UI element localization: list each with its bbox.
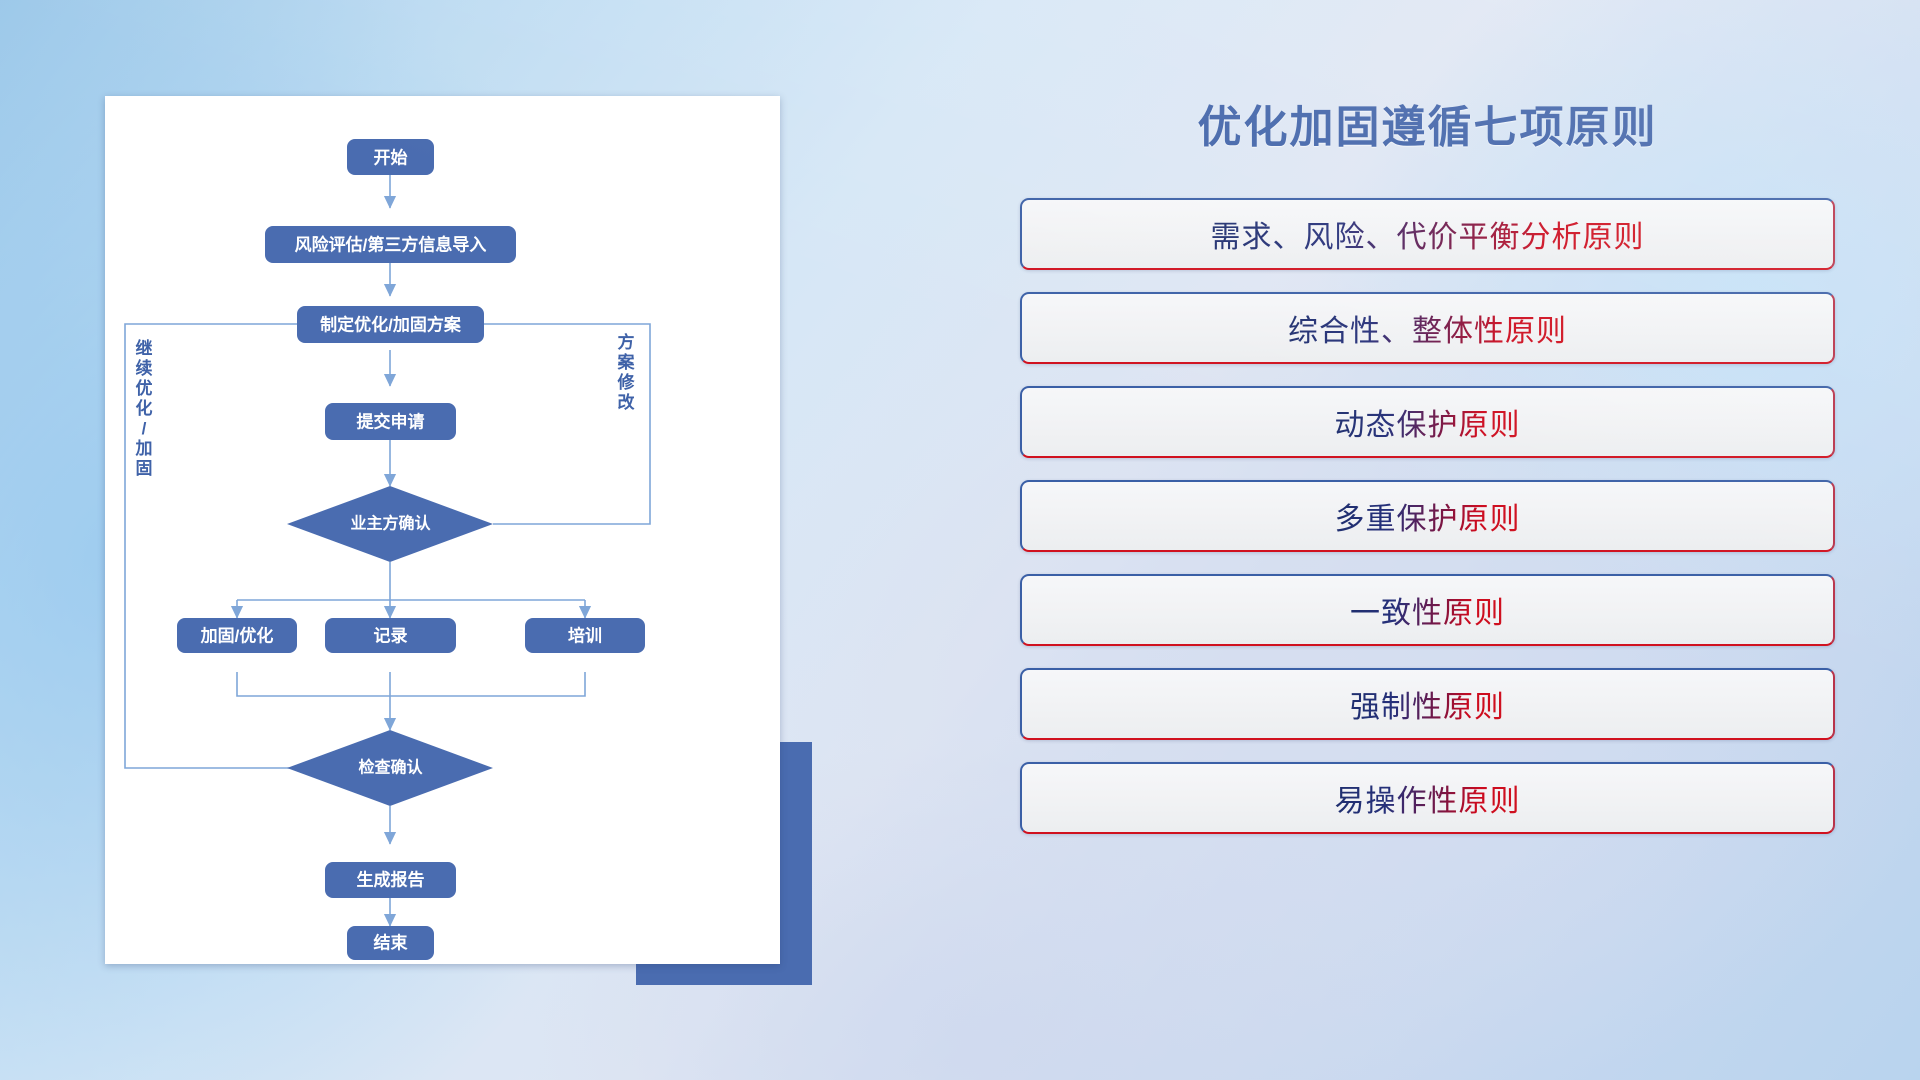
flow-node-training[interactable]: 培训 <box>525 618 645 653</box>
principle-item[interactable]: 易操作性原则 <box>1020 762 1835 834</box>
flow-node-reinforce-label: 加固/优化 <box>200 626 274 646</box>
principle-item-label: 需求、风险、代价平衡分析原则 <box>1211 212 1645 256</box>
principle-item-label: 多重保护原则 <box>1335 494 1521 538</box>
principle-item-label: 综合性、整体性原则 <box>1288 306 1567 350</box>
flow-node-report-label: 生成报告 <box>357 870 425 890</box>
connector-check-to-plan-continue <box>125 324 375 768</box>
flow-node-training-label: 培训 <box>568 626 602 646</box>
panel-title: 优化加固遵循七项原则 <box>1020 96 1835 152</box>
flow-node-plan-label: 制定优化/加固方案 <box>320 315 462 335</box>
principle-item-label: 动态保护原则 <box>1335 400 1521 444</box>
flowchart-card: 开始 风险评估/第三方信息导入 制定优化/加固方案 提交申请 业主方确认 <box>105 96 780 964</box>
flow-node-record[interactable]: 记录 <box>325 618 456 653</box>
flow-node-start-label: 开始 <box>374 148 408 168</box>
flow-node-owner-confirm[interactable]: 业主方确认 <box>287 486 493 562</box>
flow-node-end-label: 结束 <box>374 933 408 953</box>
flow-node-check-confirm[interactable]: 检查确认 <box>287 730 493 806</box>
flow-node-owner-confirm-label: 业主方确认 <box>350 514 431 533</box>
flow-node-record-label: 记录 <box>374 627 408 646</box>
flow-node-risk-assessment-label: 风险评估/第三方信息导入 <box>295 235 487 255</box>
slide-canvas: 开始 风险评估/第三方信息导入 制定优化/加固方案 提交申请 业主方确认 <box>0 0 1920 1080</box>
principle-item[interactable]: 动态保护原则 <box>1020 386 1835 458</box>
principle-item[interactable]: 强制性原则 <box>1020 668 1835 740</box>
principles-panel: 优化加固遵循七项原则 需求、风险、代价平衡分析原则 综合性、整体性原则 动态保护… <box>1020 96 1835 996</box>
flow-node-plan[interactable]: 制定优化/加固方案 <box>297 306 484 343</box>
flow-node-submit[interactable]: 提交申请 <box>325 403 456 440</box>
flow-node-report[interactable]: 生成报告 <box>325 862 456 898</box>
principle-item[interactable]: 需求、风险、代价平衡分析原则 <box>1020 198 1835 270</box>
flow-node-start[interactable]: 开始 <box>347 139 434 175</box>
connector-merge-bar <box>237 672 585 696</box>
principle-item-label: 易操作性原则 <box>1335 776 1521 820</box>
principle-item-label: 一致性原则 <box>1350 588 1505 632</box>
flow-node-end[interactable]: 结束 <box>347 926 434 960</box>
flowchart-svg: 开始 风险评估/第三方信息导入 制定优化/加固方案 提交申请 业主方确认 <box>105 96 780 964</box>
flow-node-check-confirm-label: 检查确认 <box>358 758 423 777</box>
principles-list: 需求、风险、代价平衡分析原则 综合性、整体性原则 动态保护原则 多重保护原则 一… <box>1020 198 1835 834</box>
flow-node-risk-assessment[interactable]: 风险评估/第三方信息导入 <box>265 226 516 263</box>
principle-item[interactable]: 一致性原则 <box>1020 574 1835 646</box>
principle-item[interactable]: 多重保护原则 <box>1020 480 1835 552</box>
edge-label-continue-optimize: 继续优化/加固 <box>135 338 153 478</box>
edge-label-plan-revise: 方案修改 <box>617 332 636 412</box>
flow-node-submit-label: 提交申请 <box>357 412 425 432</box>
principle-item-label: 强制性原则 <box>1350 682 1505 726</box>
flow-node-reinforce[interactable]: 加固/优化 <box>177 618 297 653</box>
principle-item[interactable]: 综合性、整体性原则 <box>1020 292 1835 364</box>
